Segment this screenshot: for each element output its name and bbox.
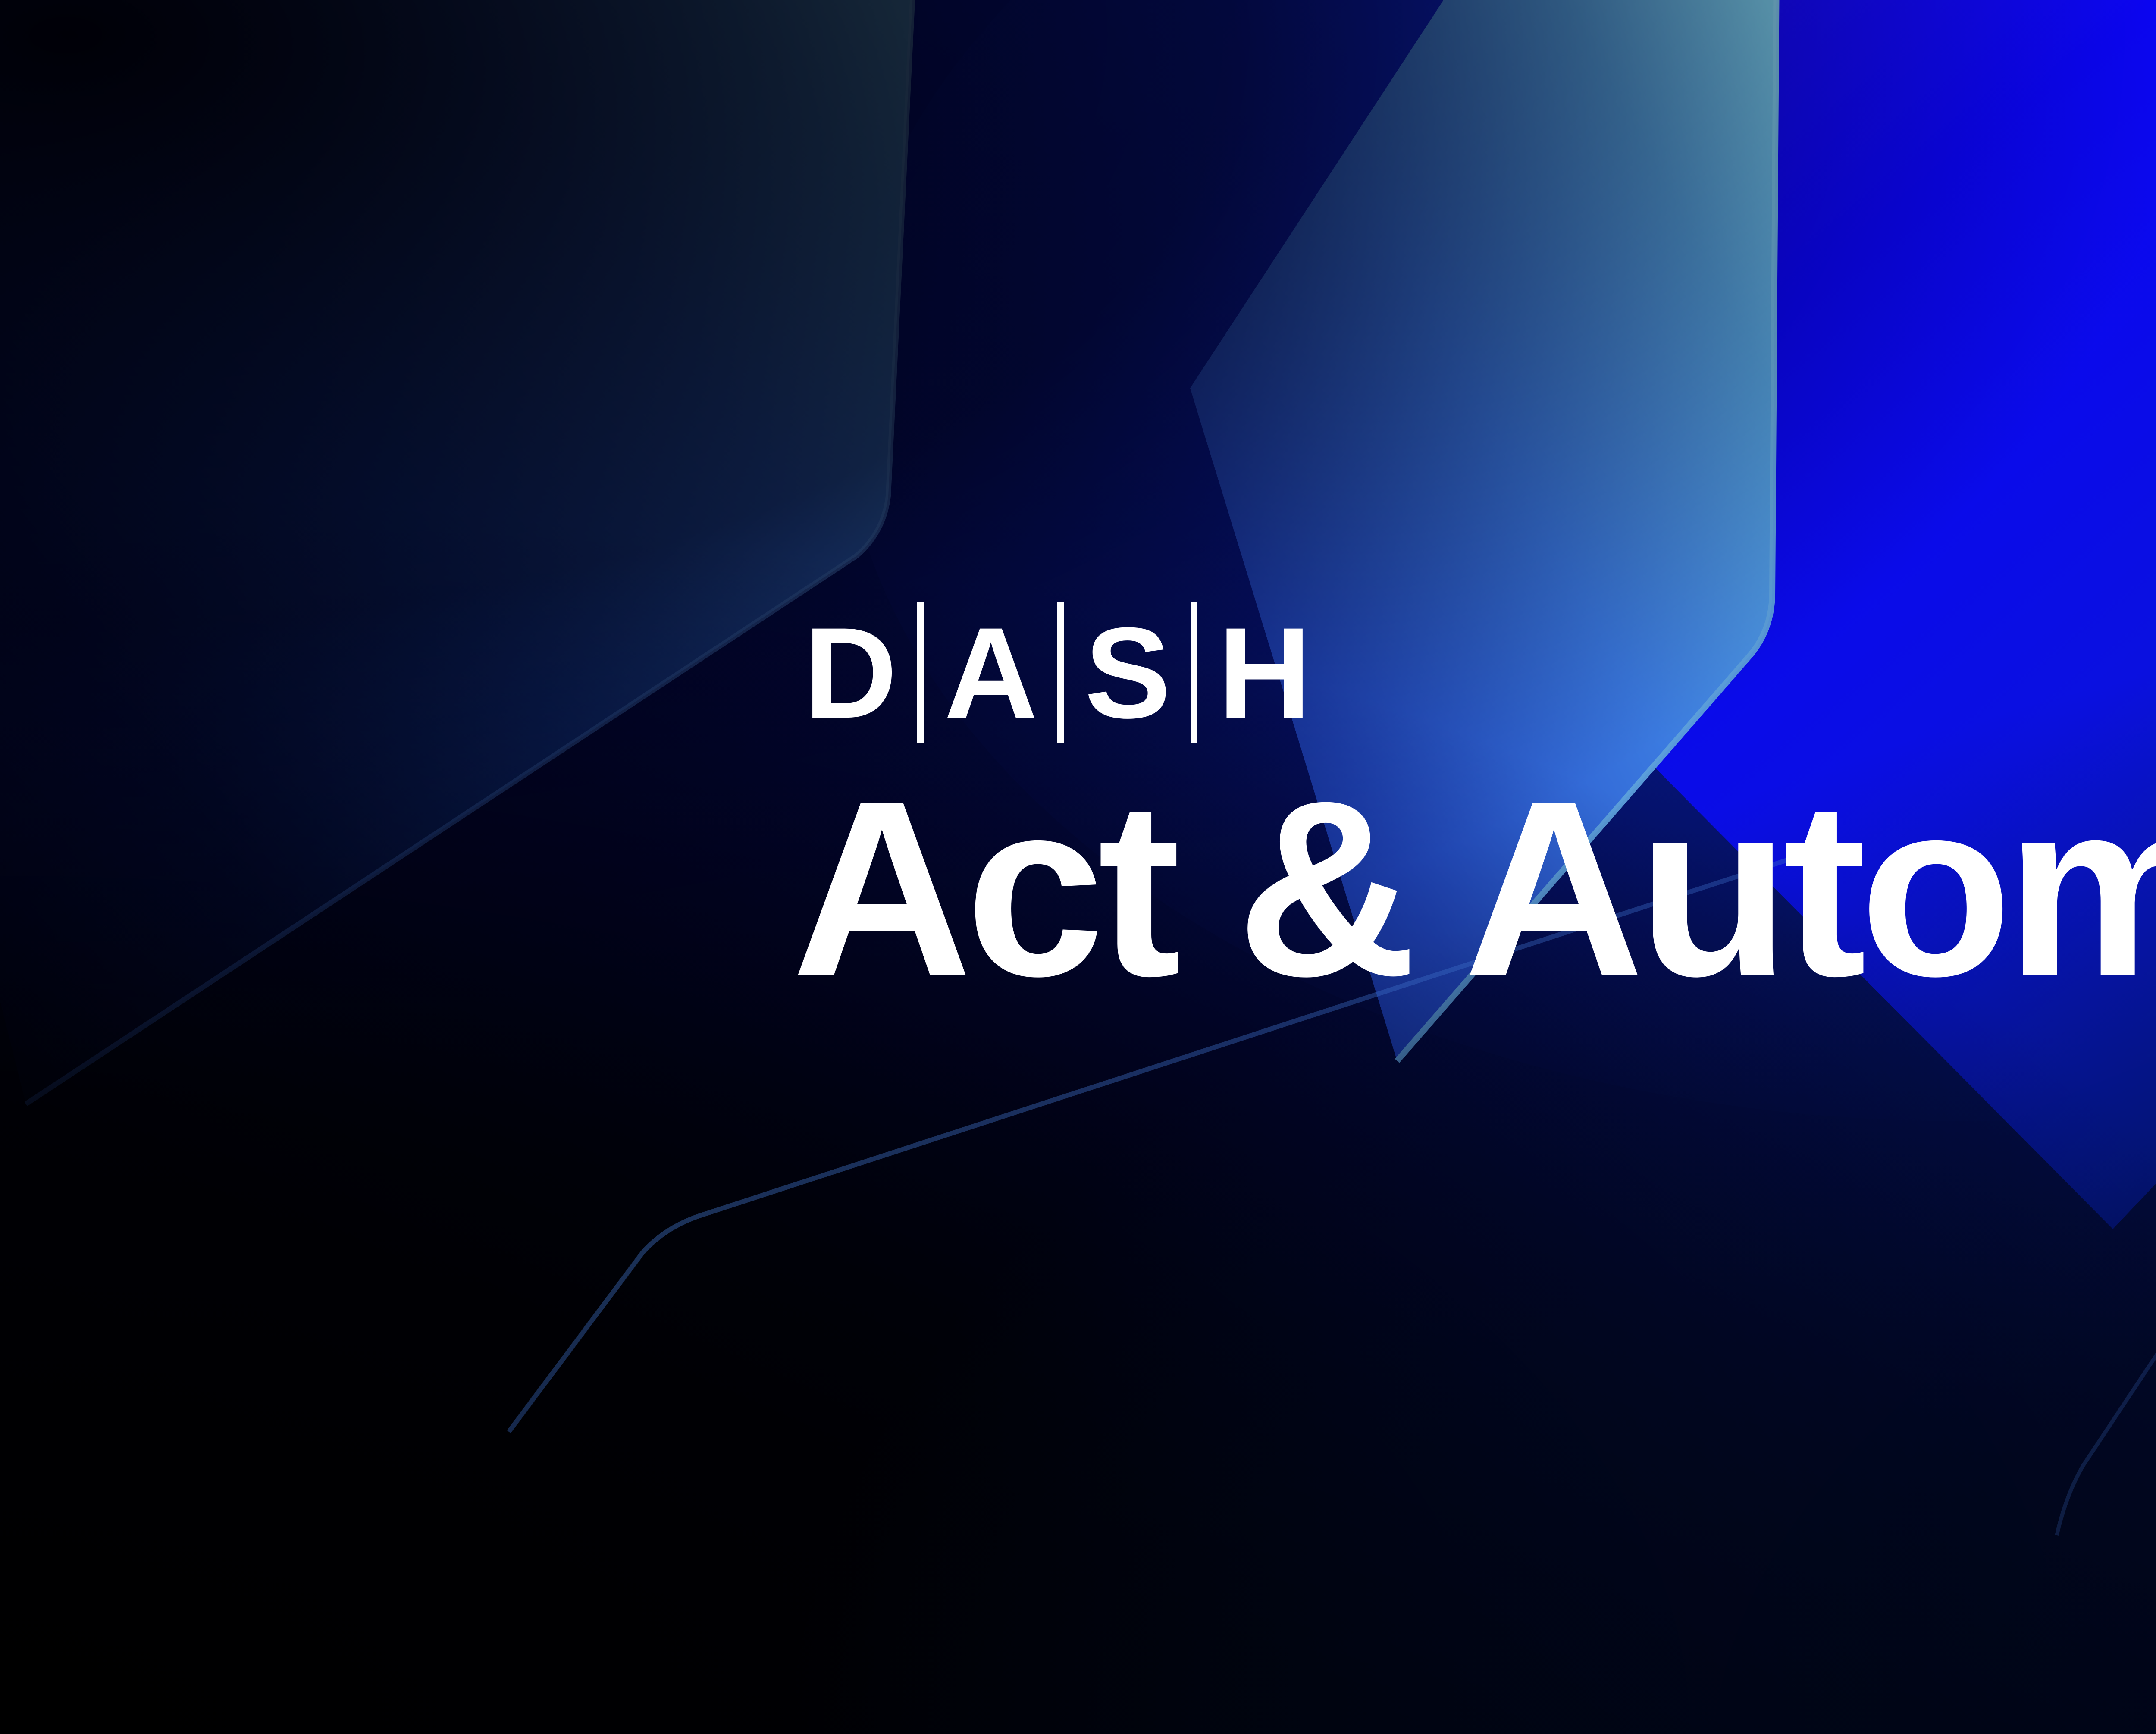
page-title: Act & Automate bbox=[792, 759, 2156, 1018]
brand-separator-1 bbox=[917, 602, 924, 743]
brand-letter-h: H bbox=[1206, 627, 1322, 719]
brand-letter-s: S bbox=[1073, 627, 1181, 719]
brand-letter-a: A bbox=[933, 627, 1048, 719]
key-art-canvas: D A S H Act & Automate bbox=[0, 0, 2156, 1734]
brand-separator-3 bbox=[1191, 602, 1197, 743]
brand-separator-2 bbox=[1057, 602, 1064, 743]
dash-wordmark[interactable]: D A S H bbox=[793, 599, 1322, 746]
brand-letter-d: D bbox=[793, 627, 908, 719]
